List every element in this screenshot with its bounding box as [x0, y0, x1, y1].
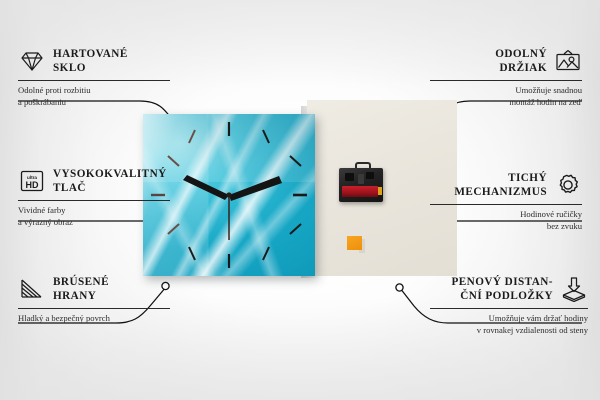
feature-divider [18, 80, 170, 81]
feature-divider [18, 200, 170, 201]
movement-shaft [358, 174, 364, 184]
feature-header: TICHÝ MECHANIZMUS [430, 170, 582, 200]
feature-header: ultra HD VYSOKOKVALITNÝ TLAČ [18, 166, 170, 196]
feature-title: HARTOVANÉ SKLO [53, 47, 128, 76]
feature-description: Hladký a bezpečný povrch [18, 313, 170, 325]
product-illustration [143, 104, 457, 276]
picture-hanger-icon [554, 48, 582, 74]
feature-title: PENOVÝ DISTAN- ČNÍ PODLOŽKY [451, 275, 553, 304]
feature-divider [430, 308, 588, 309]
svg-text:HD: HD [26, 180, 39, 190]
feature-foam-spacers: PENOVÝ DISTAN- ČNÍ PODLOŽKY Umožňuje vám… [430, 274, 588, 337]
feature-title: TICHÝ MECHANIZMUS [454, 171, 547, 200]
feature-header: PENOVÝ DISTAN- ČNÍ PODLOŽKY [430, 274, 588, 304]
connector-dot-foam [396, 284, 403, 291]
movement-knob-left [345, 173, 354, 181]
aa-battery [342, 186, 378, 197]
hands-hub [226, 192, 231, 197]
feature-description: Vividné farby a výrazný obraz [18, 205, 170, 229]
diamond-icon [18, 48, 46, 74]
feature-durable-holder: ODOLNÝ DRŽIAK Umožňuje snadnou montáž ho… [430, 46, 582, 109]
gear-icon [554, 172, 582, 198]
foam-pad-top [347, 236, 362, 250]
clock-movement-mechanism [339, 162, 383, 202]
movement-knob-right [366, 172, 374, 179]
feature-divider [430, 204, 582, 205]
minute-hand [229, 176, 282, 201]
foam-spacer-pad [347, 236, 365, 253]
feature-polished-edges: BRÚSENÉ HRANY Hladký a bezpečný povrch [18, 274, 170, 325]
feature-header: HARTOVANÉ SKLO [18, 46, 170, 76]
polished-edge-hatch-icon [18, 276, 46, 302]
feature-divider [430, 80, 582, 81]
infographic-stage: HARTOVANÉ SKLO Odolné proti rozbitiu a p… [0, 0, 600, 400]
feature-title: VYSOKOKVALITNÝ TLAČ [53, 167, 167, 196]
feature-divider [18, 308, 170, 309]
feature-header: ODOLNÝ DRŽIAK [430, 46, 582, 76]
feature-high-quality-print: ultra HD VYSOKOKVALITNÝ TLAČ Vividné far… [18, 166, 170, 229]
ultra-hd-badge-icon: ultra HD [18, 168, 46, 194]
feature-tempered-glass: HARTOVANÉ SKLO Odolné proti rozbitiu a p… [18, 46, 170, 109]
feature-description: Umožňuje vám držať hodiny v rovnakej vzd… [430, 313, 588, 337]
battery-positive-tip [378, 187, 382, 195]
feature-title: ODOLNÝ DRŽIAK [495, 47, 547, 76]
hour-hand [183, 175, 229, 200]
feature-silent-mechanism: TICHÝ MECHANIZMUS Hodinové ručičky bez z… [430, 170, 582, 233]
feature-description: Odolné proti rozbitiu a poškrábaniu [18, 85, 170, 109]
down-arrow-on-pad-icon [560, 276, 588, 302]
feature-title: BRÚSENÉ HRANY [53, 275, 109, 304]
feature-header: BRÚSENÉ HRANY [18, 274, 170, 304]
feature-description: Umožňuje snadnou montáž hodin na zeď [430, 85, 582, 109]
feature-description: Hodinové ručičky bez zvuku [430, 209, 582, 233]
